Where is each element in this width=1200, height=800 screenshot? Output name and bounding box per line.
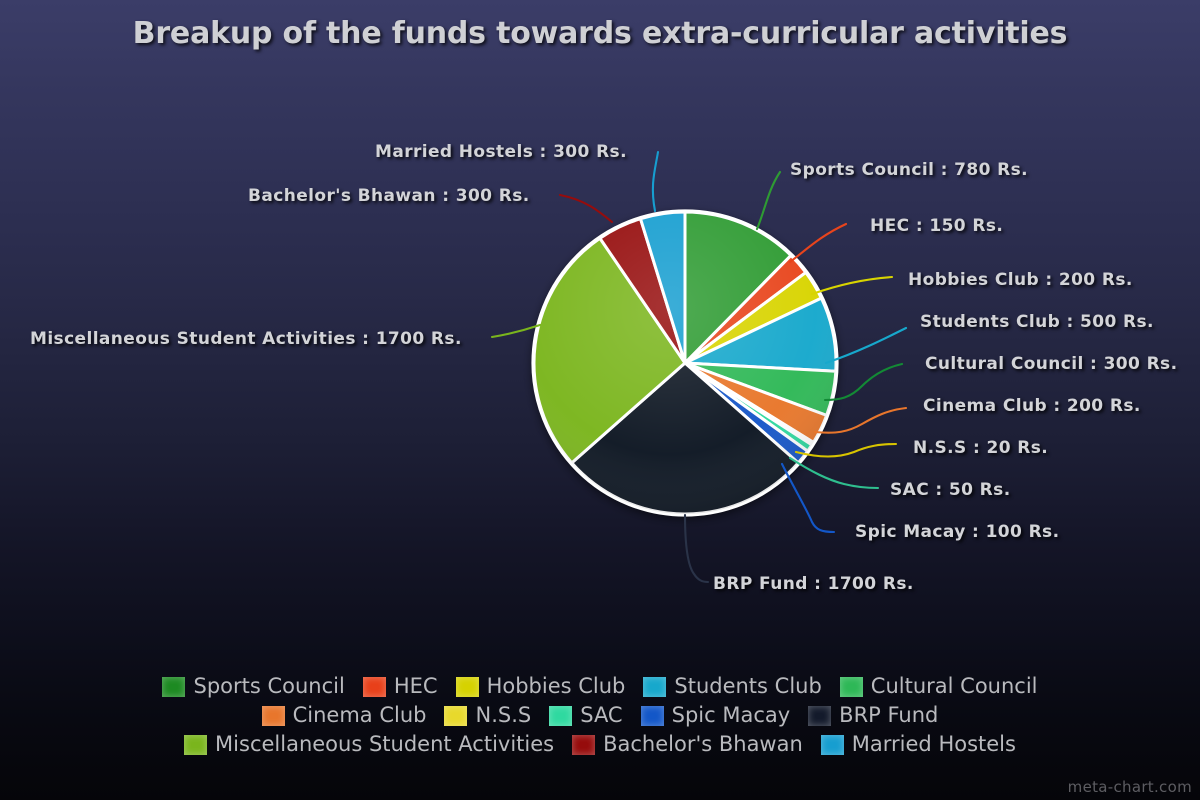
legend-swatch-spic-macay (641, 706, 664, 726)
leader-miscellaneous (492, 325, 540, 337)
leader-students-club (826, 328, 906, 363)
leader-hobbies-club (812, 277, 892, 294)
chart-canvas: Breakup of the funds towards extra-curri… (0, 0, 1200, 800)
leader-hec (790, 224, 846, 262)
legend-swatch-bachelor-s-bhawan (572, 735, 595, 755)
watermark: meta-chart.com (1068, 778, 1192, 796)
legend-item-miscellaneous-student-activities[interactable]: Miscellaneous Student Activities (184, 734, 554, 755)
callout-sports-council: Sports Council : 780 Rs. (790, 160, 1028, 180)
legend-swatch-cinema-club (262, 706, 285, 726)
legend-label-cinema-club: Cinema Club (293, 705, 427, 726)
legend-label-miscellaneous-student-activities: Miscellaneous Student Activities (215, 734, 554, 755)
legend-item-n-s-s[interactable]: N.S.S (444, 705, 531, 726)
legend: Sports CouncilHECHobbies ClubStudents Cl… (0, 672, 1200, 759)
legend-swatch-n-s-s (444, 706, 467, 726)
leader-bachelors-bhawan (560, 195, 612, 222)
legend-label-brp-fund: BRP Fund (839, 705, 938, 726)
legend-label-cultural-council: Cultural Council (871, 676, 1038, 697)
leader-sac (790, 458, 878, 488)
legend-swatch-sports-council (162, 677, 185, 697)
pie-slices (534, 212, 836, 514)
legend-item-sports-council[interactable]: Sports Council (162, 676, 344, 697)
legend-row: Cinema ClubN.S.SSACSpic MacayBRP Fund (0, 701, 1200, 730)
legend-item-bachelor-s-bhawan[interactable]: Bachelor's Bhawan (572, 734, 803, 755)
legend-item-brp-fund[interactable]: BRP Fund (808, 705, 938, 726)
callout-spic-macay: Spic Macay : 100 Rs. (855, 522, 1059, 542)
legend-label-hobbies-club: Hobbies Club (487, 676, 626, 697)
callout-bachelors-bhawan: Bachelor's Bhawan : 300 Rs. (248, 186, 530, 206)
legend-label-n-s-s: N.S.S (475, 705, 531, 726)
legend-item-cinema-club[interactable]: Cinema Club (262, 705, 427, 726)
legend-item-students-club[interactable]: Students Club (643, 676, 821, 697)
callout-hec: HEC : 150 Rs. (870, 216, 1003, 236)
legend-item-hobbies-club[interactable]: Hobbies Club (456, 676, 626, 697)
legend-swatch-married-hostels (821, 735, 844, 755)
callout-cinema-club: Cinema Club : 200 Rs. (923, 396, 1141, 416)
callout-hobbies-club: Hobbies Club : 200 Rs. (908, 270, 1133, 290)
legend-swatch-cultural-council (840, 677, 863, 697)
legend-swatch-students-club (643, 677, 666, 697)
legend-item-sac[interactable]: SAC (549, 705, 622, 726)
leader-brp-fund (685, 515, 708, 582)
legend-label-students-club: Students Club (674, 676, 821, 697)
legend-item-cultural-council[interactable]: Cultural Council (840, 676, 1038, 697)
callout-students-club: Students Club : 500 Rs. (920, 312, 1154, 332)
legend-label-bachelor-s-bhawan: Bachelor's Bhawan (603, 734, 803, 755)
legend-row: Miscellaneous Student ActivitiesBachelor… (0, 730, 1200, 759)
legend-item-hec[interactable]: HEC (363, 676, 438, 697)
legend-label-spic-macay: Spic Macay (672, 705, 791, 726)
callout-sac: SAC : 50 Rs. (890, 480, 1011, 500)
callout-nss: N.S.S : 20 Rs. (913, 438, 1048, 458)
legend-item-married-hostels[interactable]: Married Hostels (821, 734, 1016, 755)
legend-swatch-hobbies-club (456, 677, 479, 697)
legend-label-hec: HEC (394, 676, 438, 697)
legend-swatch-brp-fund (808, 706, 831, 726)
legend-swatch-miscellaneous-student-activities (184, 735, 207, 755)
legend-item-spic-macay[interactable]: Spic Macay (641, 705, 791, 726)
leader-sports-council (757, 172, 780, 229)
legend-label-married-hostels: Married Hostels (852, 734, 1016, 755)
legend-label-sac: SAC (580, 705, 622, 726)
legend-swatch-hec (363, 677, 386, 697)
legend-row: Sports CouncilHECHobbies ClubStudents Cl… (0, 672, 1200, 701)
callout-cultural-council: Cultural Council : 300 Rs. (925, 354, 1177, 374)
callout-married-hostels: Married Hostels : 300 Rs. (375, 142, 627, 162)
callout-miscellaneous: Miscellaneous Student Activities : 1700 … (30, 329, 462, 349)
callout-brp-fund: BRP Fund : 1700 Rs. (713, 574, 914, 594)
legend-label-sports-council: Sports Council (193, 676, 344, 697)
leader-married-hostels (653, 152, 658, 211)
legend-swatch-sac (549, 706, 572, 726)
